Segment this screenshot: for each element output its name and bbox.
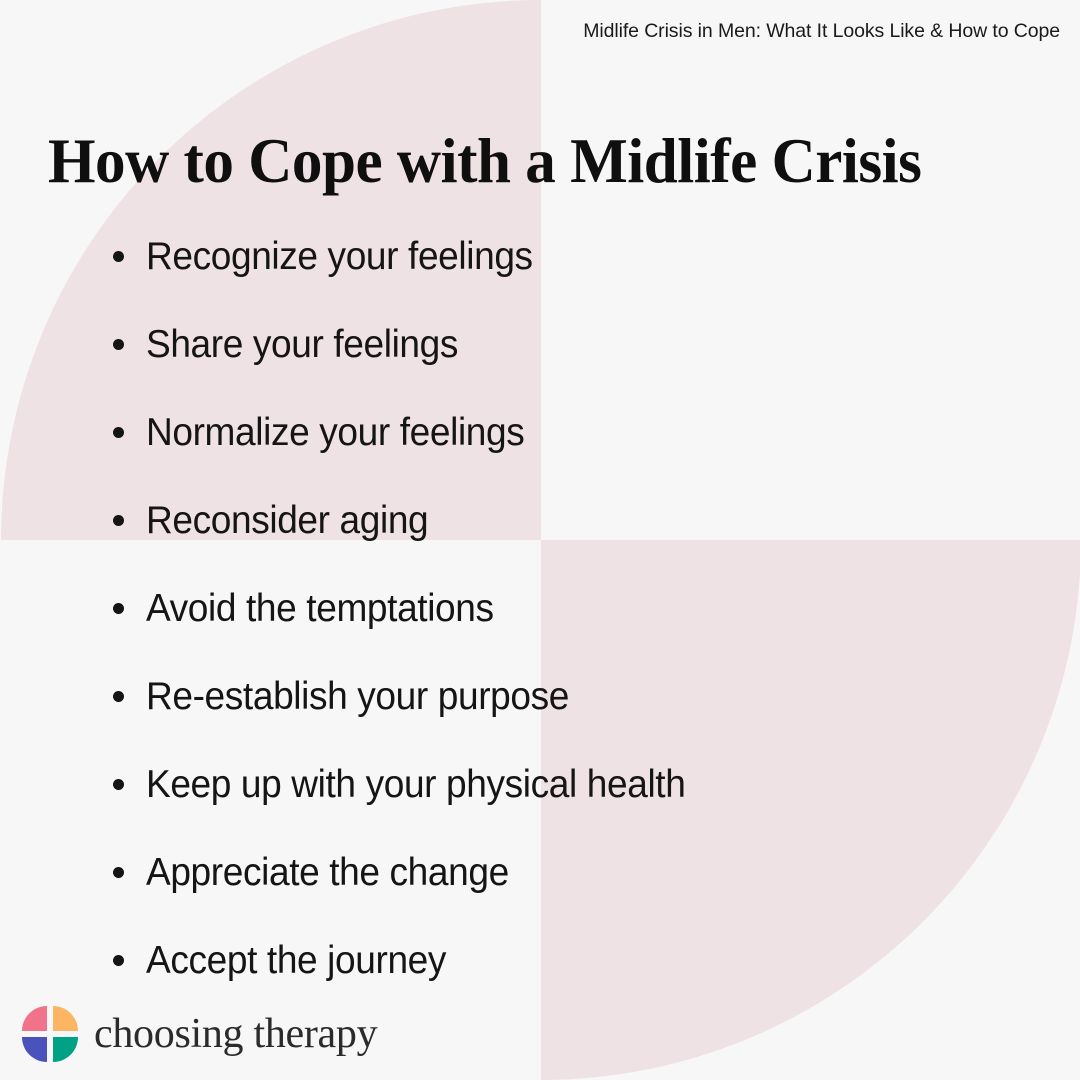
list-item-label: Reconsider aging: [146, 501, 428, 540]
list-item-label: Keep up with your physical health: [146, 765, 685, 804]
logo-quadrant-top-left: [22, 1006, 47, 1031]
list-item: Avoid the temptations: [110, 564, 1050, 652]
list-item-label: Normalize your feelings: [146, 413, 524, 452]
bullet-dot-icon: [113, 515, 124, 526]
logo-quadrant-bottom-left: [22, 1037, 47, 1062]
brand-wordmark: choosing therapy: [94, 1013, 377, 1055]
logo-quadrant-bottom-right: [53, 1037, 78, 1062]
list-item-label: Recognize your feelings: [146, 237, 533, 276]
bullet-dot-icon: [113, 955, 124, 966]
list-item: Keep up with your physical health: [110, 740, 1050, 828]
bullet-dot-icon: [113, 251, 124, 262]
coping-strategies-list: Recognize your feelings Share your feeli…: [110, 212, 1050, 1004]
list-item: Accept the journey: [110, 916, 1050, 1004]
list-item-label: Re-establish your purpose: [146, 677, 569, 716]
bullet-dot-icon: [113, 779, 124, 790]
bullet-dot-icon: [113, 339, 124, 350]
bullet-dot-icon: [113, 691, 124, 702]
list-item-label: Share your feelings: [146, 325, 458, 364]
list-item-label: Accept the journey: [146, 941, 446, 980]
infographic-canvas: Midlife Crisis in Men: What It Looks Lik…: [0, 0, 1080, 1080]
brand-logo: choosing therapy: [22, 1006, 377, 1062]
list-item: Re-establish your purpose: [110, 652, 1050, 740]
list-item: Recognize your feelings: [110, 212, 1050, 300]
bullet-dot-icon: [113, 867, 124, 878]
list-item: Reconsider aging: [110, 476, 1050, 564]
list-item-label: Avoid the temptations: [146, 589, 494, 628]
list-item: Appreciate the change: [110, 828, 1050, 916]
page-title: How to Cope with a Midlife Crisis: [48, 130, 921, 193]
choosing-therapy-mark-icon: [22, 1006, 78, 1062]
article-breadcrumb: Midlife Crisis in Men: What It Looks Lik…: [583, 20, 1060, 43]
bullet-dot-icon: [113, 427, 124, 438]
logo-quadrant-top-right: [53, 1006, 78, 1031]
list-item-label: Appreciate the change: [146, 853, 509, 892]
list-item: Share your feelings: [110, 300, 1050, 388]
bullet-dot-icon: [113, 603, 124, 614]
list-item: Normalize your feelings: [110, 388, 1050, 476]
